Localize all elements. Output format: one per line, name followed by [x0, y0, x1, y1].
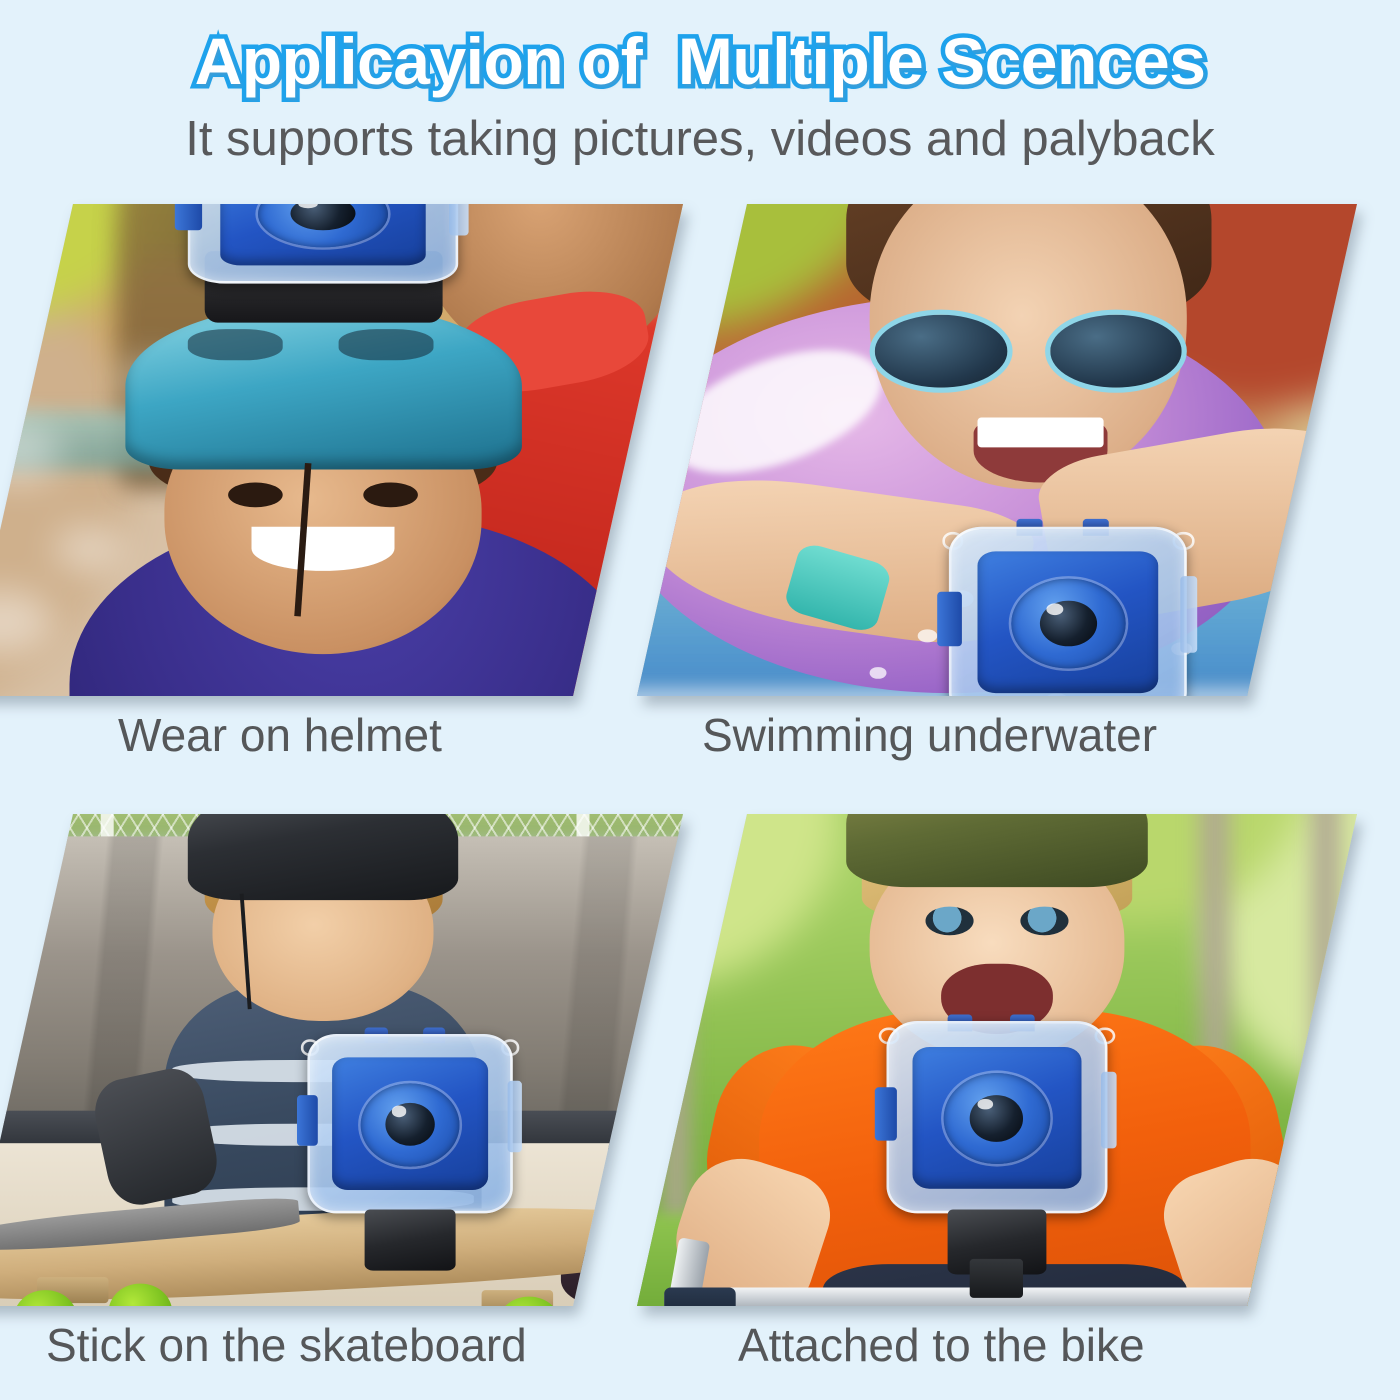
- camera-side-button: [175, 204, 202, 230]
- camera-case-latch: [450, 204, 469, 236]
- scene-photo-attached-to-the-bike: [637, 814, 1357, 1306]
- boy-eye-right: [1021, 906, 1069, 935]
- action-camera: [886, 1022, 1108, 1214]
- camera-lens-glint: [977, 1098, 993, 1109]
- camera-side-button: [875, 1087, 897, 1141]
- scene-caption-wear-on-helmet: Wear on helmet: [18, 709, 728, 762]
- camera-side-button: [938, 592, 962, 646]
- photo-art-pool: [637, 204, 1357, 696]
- sunglasses-lens-right: [1045, 309, 1188, 392]
- infographic-header: Applicayion of Multiple Scences It suppo…: [0, 0, 1400, 167]
- scene-card-attached-to-the-bike[interactable]: Attached to the bike: [692, 814, 1302, 1306]
- scene-grid: Wear on helmet: [0, 196, 1400, 1400]
- page-subtitle: It supports taking pictures, videos and …: [0, 113, 1400, 167]
- scene-photo-swimming-underwater: [637, 204, 1357, 696]
- camo-bike-helmet: [846, 814, 1147, 887]
- handlebar-riser-right: [1283, 1237, 1329, 1306]
- camera-mount-arm: [970, 1260, 1023, 1298]
- photo-art-helmet: [0, 204, 683, 696]
- handlebar-grip-right: [1259, 1287, 1330, 1306]
- scene-card-wear-on-helmet[interactable]: Wear on helmet: [18, 204, 628, 696]
- action-camera: [188, 204, 458, 284]
- camera-case-latch: [507, 1081, 521, 1153]
- scene-caption-attached-to-the-bike: Attached to the bike: [692, 1319, 1348, 1372]
- camera-case-latch: [1180, 577, 1197, 654]
- camera-adhesive-mount: [365, 1210, 456, 1271]
- teal-helmet: [125, 303, 522, 469]
- black-skate-helmet: [188, 814, 458, 900]
- scene-photo-stick-on-the-skateboard: [0, 814, 683, 1306]
- sunglasses-lens-left: [870, 309, 1013, 392]
- scene-card-swimming-underwater[interactable]: Swimming underwater: [692, 204, 1302, 696]
- camera-case-latch: [1101, 1071, 1117, 1148]
- child-teeth: [977, 418, 1104, 447]
- scene-photo-wear-on-helmet: [0, 204, 683, 696]
- scene-card-stick-on-the-skateboard[interactable]: Stick on the skateboard: [18, 814, 628, 1306]
- scene-caption-stick-on-the-skateboard: Stick on the skateboard: [18, 1319, 656, 1372]
- photo-art-forest: [637, 814, 1357, 1306]
- birch-trunk: [1298, 814, 1353, 1252]
- camera-side-button: [297, 1095, 318, 1145]
- helmet-vent: [339, 328, 434, 360]
- scene-caption-swimming-underwater: Swimming underwater: [692, 709, 1312, 762]
- photo-art-skatepark: [0, 814, 683, 1306]
- boy-eye-right: [363, 482, 418, 508]
- boy-eye-left: [926, 906, 974, 935]
- blue-sunglasses: [870, 309, 1187, 392]
- handlebar-grip-left: [664, 1287, 735, 1306]
- action-camera: [307, 1034, 513, 1213]
- action-camera: [949, 527, 1187, 696]
- camera-lens-glint: [1047, 603, 1064, 614]
- helmet-vent: [188, 328, 283, 360]
- page-title: Applicayion of Multiple Scences: [0, 26, 1400, 97]
- camera-lens-glint: [392, 1106, 406, 1117]
